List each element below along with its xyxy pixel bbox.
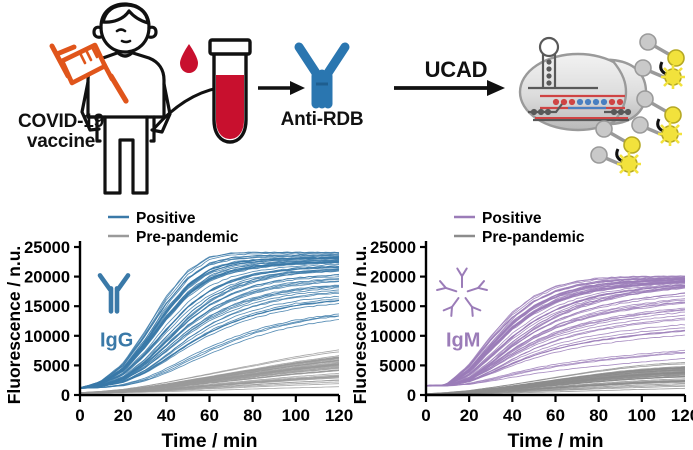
igm-igm-icon: [437, 269, 487, 316]
igg-x-tick-label: 0: [75, 406, 84, 425]
chart-panel-igg: 0500010000150002000025000020406080100120…: [0, 203, 347, 450]
igg-x-tick-label: 80: [243, 406, 262, 425]
igm-igm-arm: [478, 281, 484, 288]
igg-y-tick-label: 15000: [24, 298, 70, 316]
igm-x-tick-label: 100: [628, 406, 656, 425]
igg-x-tick-label: 100: [282, 406, 310, 425]
blood-draw-arrow-icon: [152, 88, 218, 131]
vaccine-label: COVID-19 vaccine: [0, 112, 122, 152]
schematic-graphics: [0, 0, 693, 200]
igm-igm-arm: [440, 281, 446, 288]
igg-x-tick-label: 40: [157, 406, 176, 425]
igm-x-tick-label: 20: [460, 406, 479, 425]
nuclease-complex-icon: [520, 38, 646, 130]
igm-igm-arm: [472, 307, 480, 310]
igm-x-tick-label: 0: [421, 406, 430, 425]
igm-x-axis-label: Time / min: [507, 430, 603, 450]
igm-x-tick-label: 120: [671, 406, 693, 425]
igg-x-axis-label: Time / min: [161, 430, 257, 450]
igm-x-tick-label: 80: [589, 406, 608, 425]
igg-plot-canvas: 0500010000150002000025000020406080100120…: [0, 203, 347, 450]
igm-y-tick-label: 20000: [370, 269, 416, 287]
igg-legend-label: Positive: [136, 210, 196, 227]
igg-curves-group: [80, 252, 339, 393]
igm-igm-arm: [437, 288, 446, 290]
igg-ab-arm: [118, 275, 128, 289]
igg-y-tick-label: 5000: [33, 357, 70, 375]
figure-root: COVID-19 vaccine Anti-RDB UCAD 050001000…: [0, 0, 693, 450]
igm-x-tick-label: 40: [503, 406, 522, 425]
igm-y-axis-label: Fluorescence / n.u.: [350, 246, 370, 405]
vaccine-label-line2: vaccine: [0, 132, 122, 152]
igg-ab-arm: [100, 275, 110, 289]
igm-igm-arm: [478, 288, 487, 290]
antibody-label: Anti-RDB: [258, 110, 386, 130]
igm-igm-stem: [468, 288, 478, 291]
igg-x-tick-label: 20: [114, 406, 133, 425]
arrow-right-icon-1: [258, 81, 305, 95]
igm-y-tick-label: 15000: [370, 298, 416, 316]
igg-legend-label: Pre-pandemic: [136, 229, 239, 246]
igg-y-tick-label: 20000: [24, 269, 70, 287]
vaccine-label-line1: COVID-19: [0, 112, 122, 132]
workflow-schematic: COVID-19 vaccine Anti-RDB UCAD: [0, 0, 693, 200]
igm-igm-arm: [451, 307, 452, 316]
igm-y-tick-label: 5000: [379, 357, 416, 375]
igm-y-tick-label: 10000: [370, 328, 416, 346]
igm-x-tick-label: 60: [546, 406, 565, 425]
antibody-icon: [299, 47, 345, 104]
igm-legend-label: Positive: [482, 210, 542, 227]
igm-igm-stem: [452, 298, 458, 307]
igm-y-tick-label: 25000: [370, 239, 416, 257]
igm-isotype-label: IgM: [446, 330, 480, 352]
arrow-right-icon-2: [394, 80, 505, 96]
igg-x-tick-label: 60: [200, 406, 219, 425]
igg-y-tick-label: 0: [61, 387, 70, 405]
igm-plot-canvas: 0500010000150002000025000020406080100120…: [346, 203, 693, 450]
igm-y-tick-label: 0: [407, 387, 416, 405]
igm-igm-arm: [462, 269, 467, 277]
igg-y-tick-label: 10000: [24, 328, 70, 346]
igg-igg-icon: [100, 275, 128, 311]
blood-tube-icon: [210, 40, 250, 142]
chart-panel-igm: 0500010000150002000025000020406080100120…: [346, 203, 693, 450]
igm-legend-label: Pre-pandemic: [482, 229, 585, 246]
igm-igm-arm: [457, 269, 462, 277]
igm-igm-stem: [466, 298, 472, 307]
igg-isotype-label: IgG: [100, 330, 133, 352]
blood-drop-icon: [180, 44, 198, 73]
igg-y-axis-label: Fluorescence / n.u.: [4, 246, 24, 405]
igm-igm-arm: [472, 307, 473, 316]
igm-igm-stem: [446, 288, 456, 291]
igg-y-tick-label: 25000: [24, 239, 70, 257]
ucad-arrow-label: UCAD: [404, 58, 508, 81]
igm-igm-arm: [444, 307, 452, 310]
